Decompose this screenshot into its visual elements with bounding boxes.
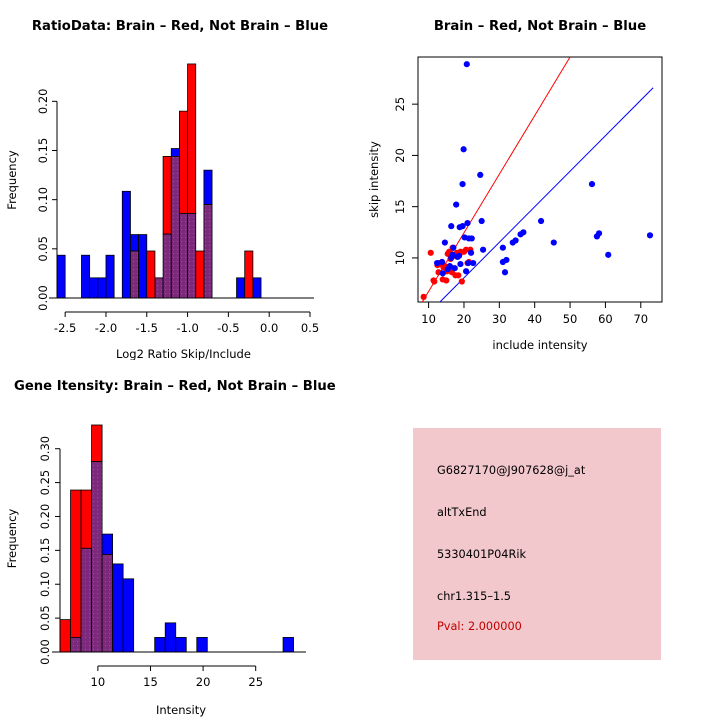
x-axis-label: Log2 Ratio Skip/Include xyxy=(116,347,251,360)
scatter-title: Brain – Red, Not Brain – Blue xyxy=(360,19,720,34)
y-tick-label: 10 xyxy=(393,251,407,266)
histogram-bar-overlap xyxy=(155,278,163,298)
x-tick-label: 20 xyxy=(457,312,472,326)
y-tick-label: 0.00 xyxy=(38,639,52,665)
histogram-bar-overlap xyxy=(204,205,212,298)
histogram-bar xyxy=(197,637,208,652)
histogram-bar xyxy=(171,149,179,157)
y-tick-label: 0.25 xyxy=(38,470,52,496)
histogram-bar xyxy=(98,278,106,298)
scatter-point xyxy=(461,146,467,152)
scatter-point xyxy=(513,237,519,243)
locus: chr1.315–1.5 xyxy=(437,590,511,603)
x-tick-label: -1.5 xyxy=(136,321,158,335)
histogram-bar xyxy=(71,490,82,637)
histogram-bar xyxy=(60,620,71,652)
x-tick-label: -2.5 xyxy=(54,321,76,335)
y-axis-label: Frequency xyxy=(5,509,19,569)
scatter-point xyxy=(520,229,526,235)
histogram-bar xyxy=(81,490,92,548)
histogram-bar xyxy=(176,637,187,652)
scatter-points xyxy=(421,61,654,300)
pval-label: Pval: 2.000000 xyxy=(437,620,522,633)
histogram-bar-overlap xyxy=(130,251,138,298)
histogram-bar xyxy=(283,637,294,652)
histogram-bar xyxy=(165,623,176,652)
scatter-point xyxy=(452,265,458,271)
histogram-bar xyxy=(245,251,253,298)
y-tick-label: 0.10 xyxy=(38,571,52,597)
probe-id: G6827170@J907628@j_at xyxy=(437,464,585,477)
scatter-point xyxy=(477,172,483,178)
ratio-histogram-title: RatioData: Brain – Red, Not Brain – Blue xyxy=(0,19,360,34)
scatter-x-axis: 10203040506070 xyxy=(421,302,648,326)
histogram-bar xyxy=(196,251,204,298)
scatter-point xyxy=(431,278,437,284)
histogram-bar xyxy=(92,425,103,462)
histogram-bar-overlap xyxy=(92,462,103,652)
x-tick-label: -1.0 xyxy=(176,321,198,335)
ratio-histogram-svg: 0.000.050.100.150.20Frequency-2.5-2.0-1.… xyxy=(0,0,360,360)
y-tick-label: 15 xyxy=(393,199,407,214)
panel-info: G6827170@J907628@j_at altTxEnd 5330401P0… xyxy=(360,360,720,720)
histogram-bar-overlap xyxy=(102,554,113,652)
scatter-point xyxy=(589,181,595,187)
scatter-point xyxy=(538,218,544,224)
histogram-bar xyxy=(106,255,114,298)
histogram-bar-overlap xyxy=(171,156,179,298)
histogram-bar xyxy=(113,564,124,652)
histogram-bar-overlap xyxy=(188,213,196,298)
x-tick-label: 0.0 xyxy=(260,321,278,335)
scatter-point xyxy=(443,277,449,283)
y-axis-label: Frequency xyxy=(5,150,19,210)
histogram-bar xyxy=(204,170,212,204)
x-tick-label: 10 xyxy=(421,312,436,326)
scatter-point xyxy=(469,235,475,241)
ratio-bars xyxy=(57,64,261,298)
scatter-point xyxy=(459,181,465,187)
gene-histogram-title: Gene Itensity: Brain – Red, Not Brain – … xyxy=(14,379,336,394)
scatter-point xyxy=(551,239,557,245)
gene-histogram-svg: 0.000.050.100.150.200.250.30Frequency101… xyxy=(0,360,360,720)
x-tick-label: -2.0 xyxy=(95,321,117,335)
y-tick-label: 0.20 xyxy=(38,504,52,530)
histogram-bar xyxy=(188,64,196,213)
gene-x-axis: 10152025 xyxy=(91,666,263,689)
x-tick-label: 0.5 xyxy=(301,321,319,335)
scatter-point xyxy=(450,245,456,251)
figure-page: RatioData: Brain – Red, Not Brain – Blue… xyxy=(0,0,720,720)
scatter-y-axis: 10152025 xyxy=(393,97,418,265)
scatter-point xyxy=(442,239,448,245)
histogram-bar xyxy=(130,235,138,251)
scatter-point xyxy=(457,261,463,267)
y-tick-label: 25 xyxy=(393,97,407,112)
x-tick-label: 20 xyxy=(196,675,211,689)
scatter-point xyxy=(464,61,470,67)
scatter-point xyxy=(479,218,485,224)
scatter-point xyxy=(434,260,440,266)
scatter-point xyxy=(455,272,461,278)
y-tick-label: 0.10 xyxy=(36,187,50,213)
histogram-bar xyxy=(139,235,147,298)
y-tick-label: 0.00 xyxy=(36,285,50,311)
scatter-point xyxy=(421,294,427,300)
scatter-point xyxy=(503,257,509,263)
x-axis-label: include intensity xyxy=(492,338,587,352)
scatter-point xyxy=(428,250,434,256)
scatter-point xyxy=(605,252,611,258)
scatter-point xyxy=(456,253,462,259)
y-tick-label: 20 xyxy=(393,148,407,163)
x-tick-label: 50 xyxy=(563,312,578,326)
x-axis-label: Intensity xyxy=(156,703,206,717)
y-tick-label: 0.05 xyxy=(36,236,50,262)
y-axis-label: skip intensity xyxy=(367,141,381,218)
y-tick-label: 0.15 xyxy=(36,138,50,164)
scatter-point xyxy=(470,260,476,266)
x-tick-label: -0.5 xyxy=(217,321,239,335)
histogram-bar xyxy=(122,191,130,298)
x-tick-label: 25 xyxy=(248,675,263,689)
y-tick-label: 0.30 xyxy=(38,436,52,462)
histogram-bar xyxy=(123,579,134,652)
histogram-bar xyxy=(90,278,98,298)
x-tick-label: 40 xyxy=(527,312,542,326)
scatter-point xyxy=(453,202,459,208)
histogram-bar xyxy=(102,534,113,554)
gene-y-axis: 0.000.050.100.150.200.250.30 xyxy=(38,436,60,665)
gene-info-box: G6827170@J907628@j_at altTxEnd 5330401P0… xyxy=(413,428,661,660)
scatter-point xyxy=(480,247,486,253)
x-tick-label: 10 xyxy=(91,675,106,689)
panel-intensity-scatter: Brain – Red, Not Brain – Blue 10152025sk… xyxy=(360,0,720,360)
scatter-reference-lines xyxy=(422,57,653,302)
histogram-bar xyxy=(147,251,155,298)
ratio-y-axis: 0.000.050.100.150.20 xyxy=(36,89,57,311)
y-tick-label: 0.15 xyxy=(38,538,52,564)
scatter-point xyxy=(502,269,508,275)
histogram-bar-overlap xyxy=(163,234,171,298)
histogram-bar xyxy=(163,156,171,234)
histogram-bar xyxy=(57,255,65,298)
gene-bars xyxy=(60,425,294,652)
scatter-point xyxy=(596,230,602,236)
histogram-bar xyxy=(179,111,187,213)
scatter-point xyxy=(647,232,653,238)
histogram-bar xyxy=(155,637,166,652)
scatter-point xyxy=(463,268,469,274)
histogram-bar-overlap xyxy=(179,213,187,298)
scatter-point xyxy=(440,270,446,276)
event-type: altTxEnd xyxy=(437,506,487,519)
y-tick-label: 0.20 xyxy=(36,89,50,115)
x-tick-label: 70 xyxy=(633,312,648,326)
panel-gene-histogram: Gene Itensity: Brain – Red, Not Brain – … xyxy=(0,360,360,720)
scatter-point xyxy=(468,250,474,256)
intensity-scatter-svg: 10152025skip intensity10203040506070incl… xyxy=(360,0,720,360)
x-tick-label: 60 xyxy=(598,312,613,326)
histogram-bar xyxy=(237,278,245,298)
x-tick-label: 30 xyxy=(492,312,507,326)
blue-reference-line xyxy=(440,88,653,302)
histogram-bar xyxy=(253,278,261,298)
histogram-bar-overlap xyxy=(71,637,82,652)
scatter-point xyxy=(464,220,470,226)
histogram-bar-overlap xyxy=(81,548,92,652)
gene-symbol: 5330401P04Rik xyxy=(437,548,526,561)
histogram-bar xyxy=(81,255,89,298)
ratio-x-axis: -2.5-2.0-1.5-1.0-0.50.00.5 xyxy=(54,312,319,335)
scatter-point xyxy=(448,223,454,229)
y-tick-label: 0.05 xyxy=(38,605,52,631)
panel-ratio-histogram: RatioData: Brain – Red, Not Brain – Blue… xyxy=(0,0,360,360)
scatter-point xyxy=(459,278,465,284)
scatter-point xyxy=(500,245,506,251)
x-tick-label: 15 xyxy=(143,675,158,689)
